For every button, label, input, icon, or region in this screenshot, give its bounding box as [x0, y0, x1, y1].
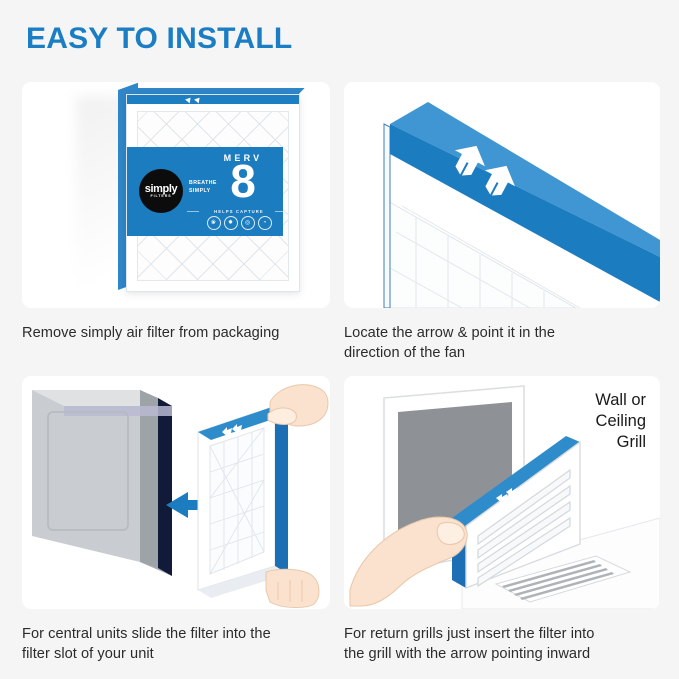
dust-icon: ✸ [224, 216, 238, 230]
rule-right [275, 211, 287, 212]
step-2-caption-line-2: direction of the fan [344, 343, 660, 363]
page-title: EASY TO INSTALL [26, 22, 292, 56]
step-3-caption-line-2: filter slot of your unit [22, 644, 330, 664]
box-blue-label: simply FILTERS BREATHE SIMPLY MERV 8 HEL… [126, 147, 283, 236]
central-unit-body [32, 390, 172, 576]
step-1-caption: Remove simply air filter from packaging [22, 323, 330, 343]
step-4-caption: For return grills just insert the filter… [344, 624, 660, 664]
mold-glyph: ◎ [245, 220, 250, 226]
infographic-root: EASY TO INSTALL [0, 0, 679, 679]
filter-box-illustration: simply FILTERS BREATHE SIMPLY MERV 8 HEL… [22, 82, 330, 308]
steps-grid: simply FILTERS BREATHE SIMPLY MERV 8 HEL… [0, 76, 679, 676]
grill-annotation-line-3: Grill [546, 432, 646, 453]
merv-rating-value: 8 [205, 158, 281, 204]
airflow-arrow-icon [185, 95, 193, 103]
pollen-glyph: ❀ [211, 220, 216, 226]
step-2-caption: Locate the arrow & point it in the direc… [344, 323, 660, 363]
box-top-strip [126, 94, 300, 104]
grill-annotation-line-2: Ceiling [546, 411, 646, 432]
pet-dander-icon: ◔ [258, 216, 272, 230]
pollen-icon: ❀ [207, 216, 221, 230]
air-filter-panel [198, 406, 288, 598]
step-4-caption-line-1: For return grills just insert the filter… [344, 624, 660, 644]
brand-subtitle: FILTERS [139, 194, 183, 198]
step-2-illustration-card [344, 82, 660, 308]
step-2: Locate the arrow & point it in the direc… [344, 82, 660, 363]
step-3: For central units slide the filter into … [22, 376, 330, 664]
step-4-illustration-card: Wall or Ceiling Grill [344, 376, 660, 609]
grill-annotation: Wall or Ceiling Grill [546, 390, 646, 453]
step-1: simply FILTERS BREATHE SIMPLY MERV 8 HEL… [22, 82, 330, 343]
brand-logo-badge: simply FILTERS [139, 169, 183, 213]
filter-slot [158, 398, 172, 576]
step-2-caption-line-1: Locate the arrow & point it in the [344, 323, 660, 343]
filter-edge-illustration [344, 82, 660, 308]
dust-glyph: ✸ [228, 220, 233, 226]
mold-icon: ◎ [241, 216, 255, 230]
step-1-illustration-card: simply FILTERS BREATHE SIMPLY MERV 8 HEL… [22, 82, 330, 308]
step-3-caption-line-1: For central units slide the filter into … [22, 624, 330, 644]
grill-annotation-line-1: Wall or [546, 390, 646, 411]
step-4: Wall or Ceiling Grill For return grills … [344, 376, 660, 664]
hand-lower [266, 569, 319, 607]
pet-dander-glyph: ◔ [263, 220, 267, 226]
step-4-caption-line-2: the grill with the arrow pointing inward [344, 644, 660, 664]
box-front-face: simply FILTERS BREATHE SIMPLY MERV 8 HEL… [126, 94, 300, 292]
capture-icons-row: ❀ ✸ ◎ ◔ [201, 216, 277, 230]
frame-side-edge [275, 406, 288, 574]
airflow-arrow-icon [194, 95, 202, 103]
step-3-caption: For central units slide the filter into … [22, 624, 330, 664]
step-3-illustration-card [22, 376, 330, 609]
hand-upper [268, 385, 328, 426]
central-unit-illustration [22, 376, 330, 609]
helps-capture-label: HELPS CAPTURE [197, 209, 281, 214]
